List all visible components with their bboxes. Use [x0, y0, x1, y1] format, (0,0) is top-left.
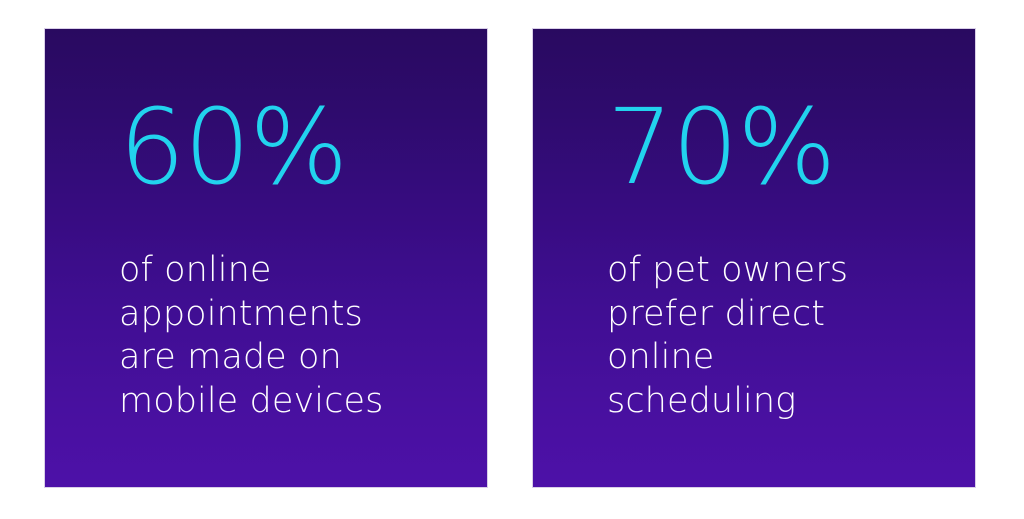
stat-description-line: of online	[119, 249, 463, 293]
stat-description-line: of pet owners	[607, 249, 951, 293]
stat-description: of pet owners prefer direct online sched…	[607, 249, 951, 423]
stat-description-line: mobile devices	[119, 380, 463, 424]
stat-description-line: scheduling	[607, 380, 951, 424]
statistics-board: 60% of online appointments are made on m…	[0, 0, 1024, 519]
stat-card-pet-owners-scheduling: 70% of pet owners prefer direct online s…	[532, 28, 976, 488]
stat-description-line: prefer direct	[607, 293, 951, 337]
stat-description-line: online	[607, 336, 951, 380]
stat-value-percentage: 60%	[119, 95, 463, 199]
stat-value-percentage: 70%	[607, 95, 951, 199]
stat-description: of online appointments are made on mobil…	[119, 249, 463, 423]
stat-description-line: are made on	[119, 336, 463, 380]
stat-description-line: appointments	[119, 293, 463, 337]
stat-card-online-appointments: 60% of online appointments are made on m…	[44, 28, 488, 488]
stat-card-content: 60% of online appointments are made on m…	[45, 29, 487, 423]
stat-card-content: 70% of pet owners prefer direct online s…	[533, 29, 975, 423]
